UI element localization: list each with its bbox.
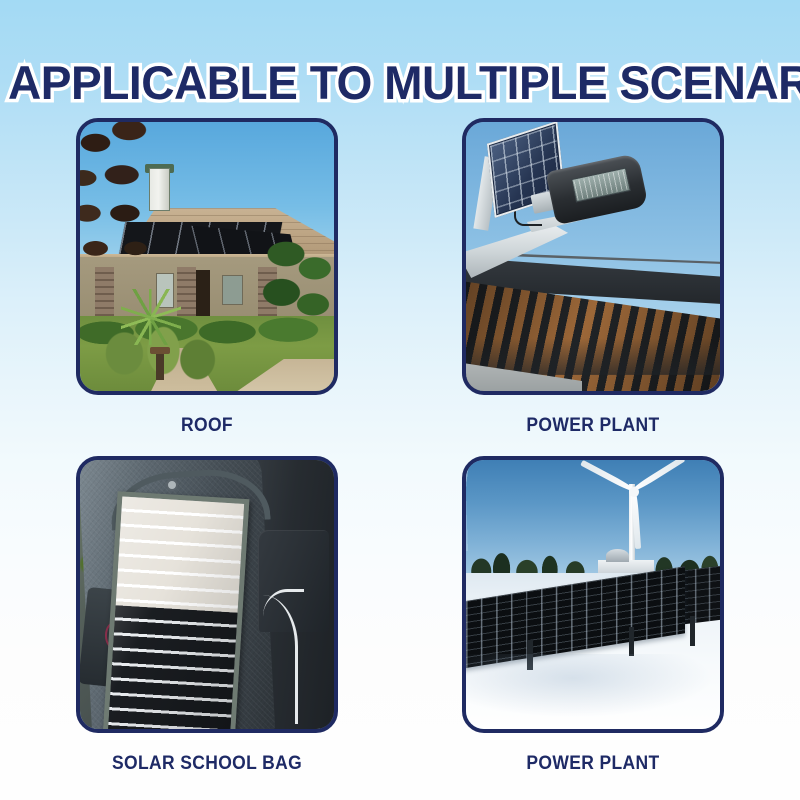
scenario-card-power-plant-streetlight[interactable]: [462, 118, 724, 395]
backpack-scene-image: [80, 460, 334, 729]
scenario-poster: APPLICABLE TO MULTIPLE SCENARIOS: [0, 0, 800, 800]
garden-lamp: [156, 353, 164, 380]
scenario-card-power-plant-farm[interactable]: [462, 456, 724, 733]
caption-roof: ROOF: [86, 415, 327, 437]
palm-plant: [121, 289, 181, 345]
caption-solar-school-bag: SOLAR SCHOOL BAG: [86, 753, 327, 775]
scenario-card-solar-school-bag[interactable]: [76, 456, 338, 733]
snow-farm-scene-image: [466, 460, 720, 729]
scenario-card-roof[interactable]: [76, 118, 338, 395]
panel-support-3: [690, 616, 696, 646]
caption-power-plant-farm: POWER PLANT: [472, 753, 713, 775]
page-title: APPLICABLE TO MULTIPLE SCENARIOS: [8, 57, 792, 109]
snow-shadow: [466, 654, 720, 729]
cirrus-clouds: [466, 460, 720, 551]
window-right: [222, 275, 242, 305]
observatory-dome: [606, 549, 629, 562]
panel-support-2: [629, 627, 635, 657]
turbine-hub: [629, 487, 639, 497]
tree-left: [80, 122, 169, 274]
solar-panel-glare: [108, 496, 244, 729]
caption-power-plant-streetlight: POWER PLANT: [472, 415, 713, 437]
roof-scene-image: [80, 122, 334, 391]
foldable-solar-panel: [103, 491, 250, 729]
charging-cable: [240, 595, 299, 724]
streetlight-scene-image: [466, 122, 720, 391]
